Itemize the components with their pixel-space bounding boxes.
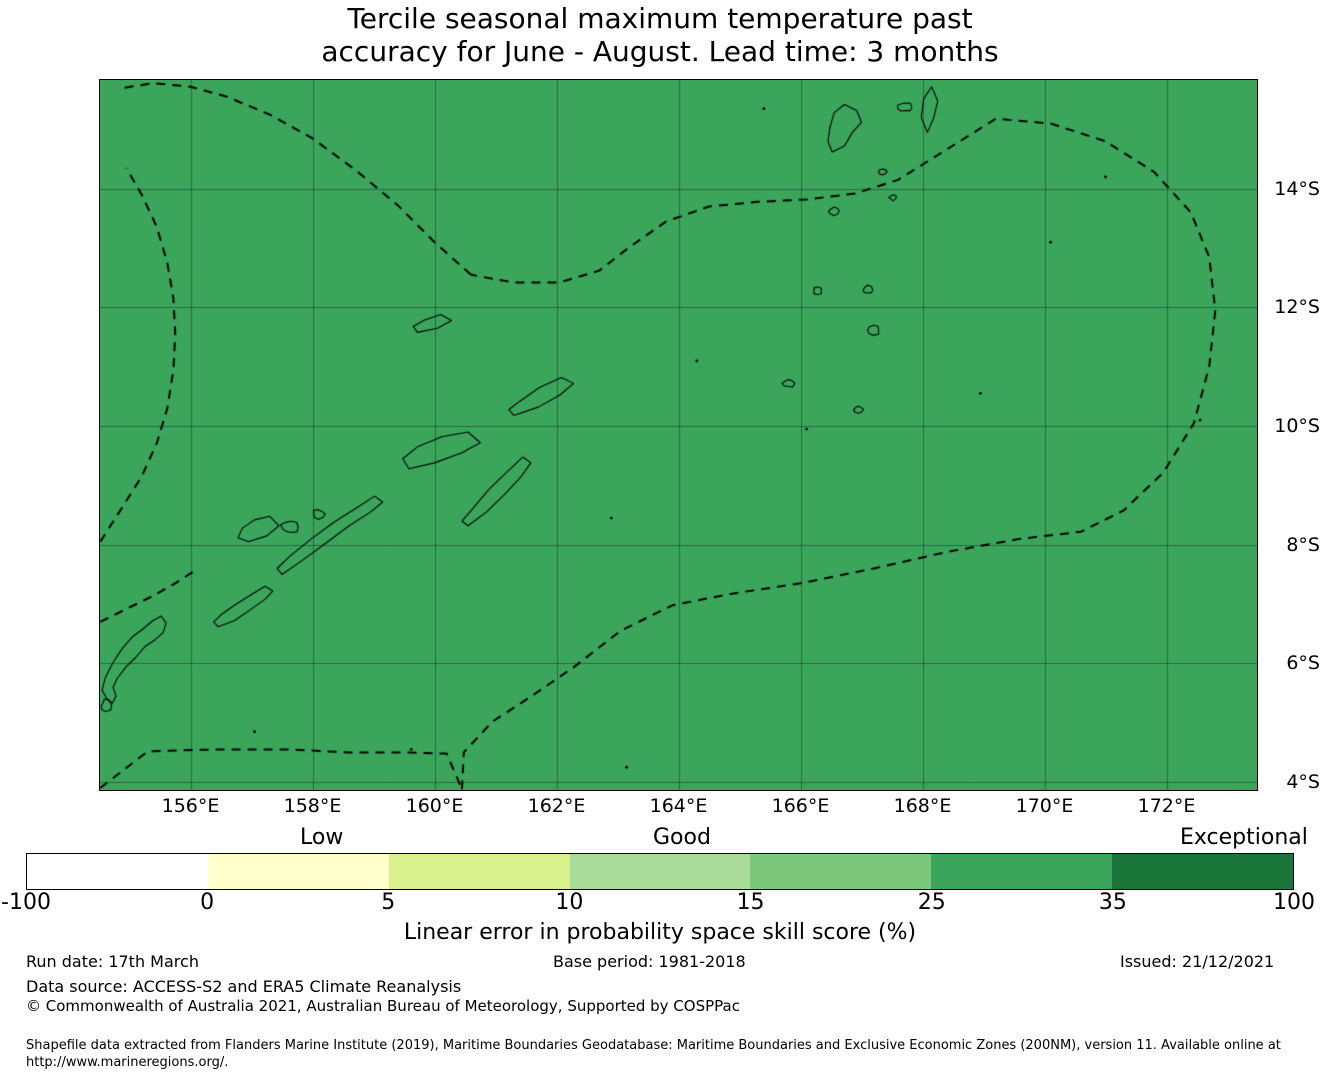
colorbar-tick-label: 35 xyxy=(1043,890,1183,915)
x-tick-label: 164°E xyxy=(619,795,739,817)
y-tick-label: 10°S xyxy=(1234,415,1320,437)
base-period-text: Base period: 1981-2018 xyxy=(553,952,746,971)
x-tick-label: 160°E xyxy=(375,795,495,817)
x-tick-label: 172°E xyxy=(1107,795,1227,817)
chart-title: Tercile seasonal maximum temperature pas… xyxy=(0,2,1320,68)
colorbar-band-0 xyxy=(27,854,208,889)
colorbar xyxy=(26,853,1294,890)
run-date-text: Run date: 17th March xyxy=(26,952,199,971)
colorbar-band-5 xyxy=(931,854,1112,889)
y-tick-label: 4°S xyxy=(1234,771,1320,793)
colorbar-band-6 xyxy=(1112,854,1293,889)
copyright-text: © Commonwealth of Australia 2021, Austra… xyxy=(26,997,740,1015)
colorbar-band-1 xyxy=(208,854,389,889)
colorbar-tick-label: 5 xyxy=(318,890,458,915)
x-tick-label: 170°E xyxy=(985,795,1105,817)
y-tick-label: 14°S xyxy=(1234,178,1320,200)
colorbar-tick-label: 25 xyxy=(862,890,1002,915)
figure-root: Tercile seasonal maximum temperature pas… xyxy=(0,0,1320,1080)
y-tick-label: 12°S xyxy=(1234,296,1320,318)
colorbar-category-exceptional: Exceptional xyxy=(1180,825,1308,850)
issued-date-text: Issued: 21/12/2021 xyxy=(1120,952,1274,971)
x-tick-label: 168°E xyxy=(863,795,983,817)
colorbar-tick-label: 10 xyxy=(499,890,639,915)
x-tick-label: 158°E xyxy=(253,795,373,817)
x-tick-label: 166°E xyxy=(741,795,861,817)
colorbar-category-low: Low xyxy=(300,825,343,850)
map-gridlines xyxy=(99,79,1258,791)
colorbar-tick-label: 100 xyxy=(1224,890,1320,915)
colorbar-tick-label: 0 xyxy=(137,890,277,915)
y-tick-label: 8°S xyxy=(1234,534,1320,556)
x-tick-label: 162°E xyxy=(497,795,617,817)
colorbar-band-2 xyxy=(389,854,570,889)
colorbar-tick-label: 15 xyxy=(681,890,821,915)
map-plot-area xyxy=(99,79,1258,791)
colorbar-band-4 xyxy=(750,854,931,889)
colorbar-band-3 xyxy=(570,854,751,889)
shapefile-attribution-text: Shapefile data extracted from Flanders M… xyxy=(26,1037,1296,1071)
y-tick-label: 6°S xyxy=(1234,652,1320,674)
colorbar-category-good: Good xyxy=(653,825,711,850)
colorbar-title: Linear error in probability space skill … xyxy=(0,920,1320,945)
colorbar-tick-label: -100 xyxy=(0,890,96,915)
colorbar-zone: LowGoodExceptional -1000510152535100 Lin… xyxy=(0,820,1320,950)
x-tick-label: 156°E xyxy=(131,795,251,817)
data-source-text: Data source: ACCESS-S2 and ERA5 Climate … xyxy=(26,977,461,996)
